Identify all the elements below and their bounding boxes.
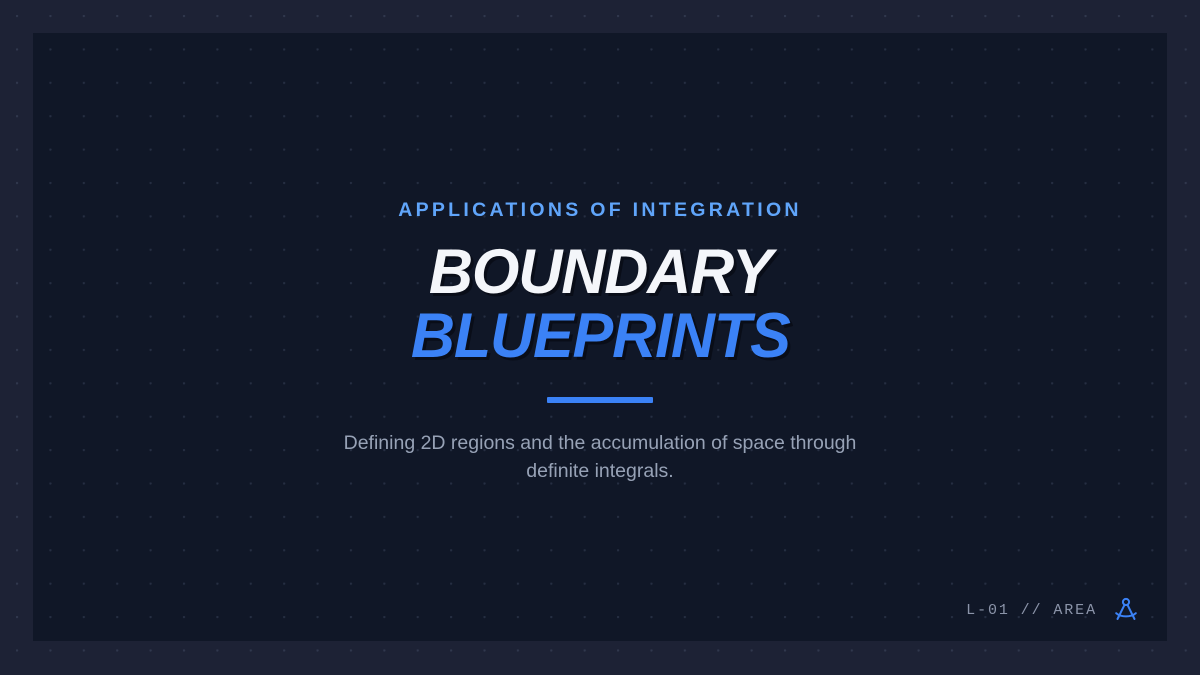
title-content-block: APPLICATIONS OF INTEGRATION BOUNDARY BLU… bbox=[33, 201, 1167, 486]
subtitle-text: Defining 2D regions and the accumulation… bbox=[320, 430, 880, 485]
compass-icon bbox=[1111, 595, 1141, 625]
eyebrow-label: APPLICATIONS OF INTEGRATION bbox=[398, 201, 802, 221]
page-title: BOUNDARY BLUEPRINTS bbox=[405, 241, 796, 368]
accent-divider bbox=[547, 397, 653, 403]
slide-footer: L-01 // AREA bbox=[966, 595, 1141, 625]
title-line-accent: BLUEPRINTS bbox=[411, 305, 790, 367]
footer-slide-label: L-01 // AREA bbox=[966, 602, 1097, 619]
slide-root: APPLICATIONS OF INTEGRATION BOUNDARY BLU… bbox=[0, 0, 1200, 675]
slide-panel: APPLICATIONS OF INTEGRATION BOUNDARY BLU… bbox=[33, 33, 1167, 641]
title-line-primary: BOUNDARY bbox=[411, 241, 790, 303]
